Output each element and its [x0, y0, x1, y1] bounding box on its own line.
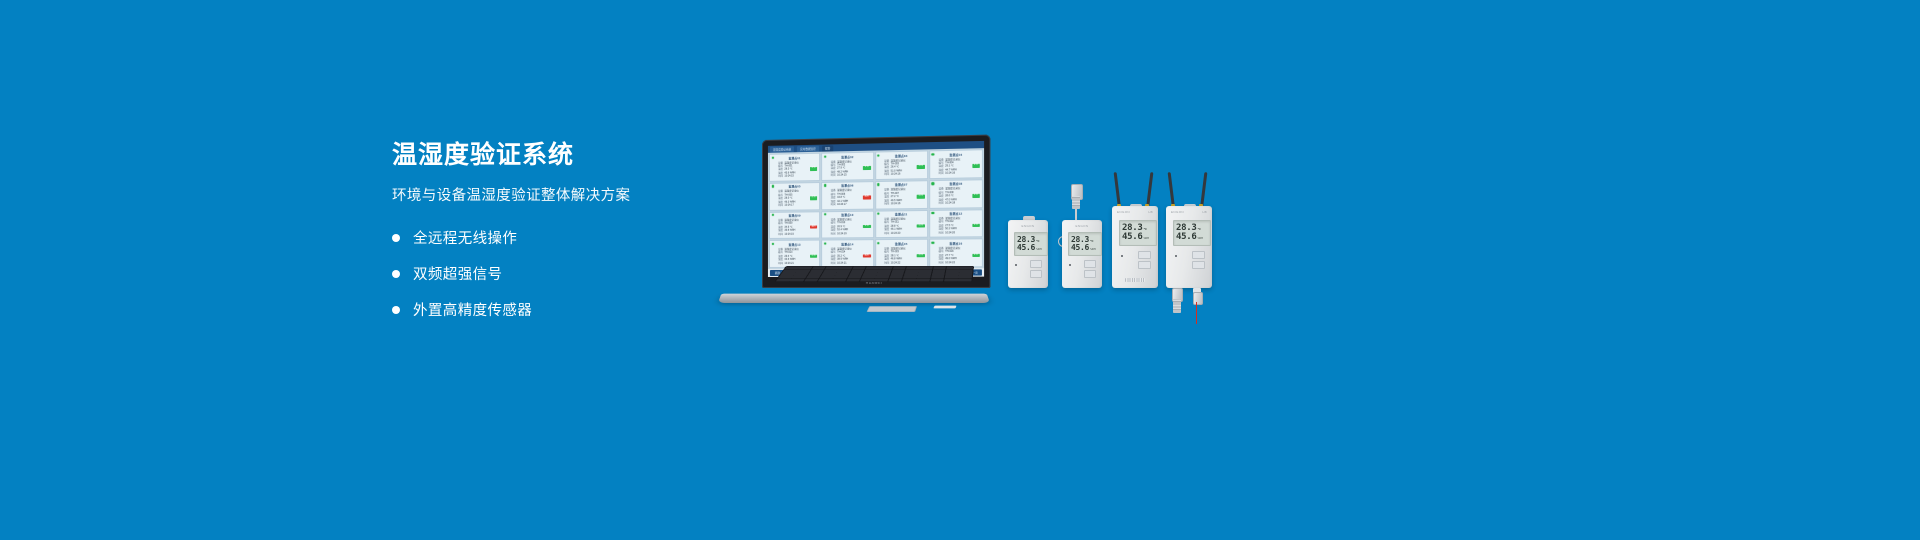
monitor-point-field: 时间10:24:16 — [932, 171, 980, 175]
keyboard-key[interactable] — [902, 279, 916, 282]
monitor-point-title: 监测点12 — [932, 211, 980, 216]
monitor-point-cell[interactable]: 监测点02设备温湿度记录仪编号TH-002温度27.9 ℃正常湿度48.2 %R… — [821, 152, 873, 181]
keyboard-key[interactable] — [860, 279, 874, 282]
status-led-icon — [932, 153, 935, 156]
monitor-point-cell[interactable]: 监测点12设备温湿度记录仪编号TH-012温度27.5 ℃正常湿度50.2 %R… — [929, 209, 983, 238]
monitor-point-cell[interactable]: 监测点04设备温湿度记录仪编号TH-004温度29.1 ℃正常湿度44.7 %R… — [929, 149, 983, 179]
field-value: 10:24:22 — [891, 261, 925, 265]
laptop-keyboard[interactable] — [774, 266, 974, 282]
field-key: 时间 — [772, 262, 783, 266]
monitor-point-title: 监测点05 — [772, 184, 817, 189]
monitor-point-cell[interactable]: 监测点14设备温湿度记录仪编号TH-014温度35.2 ℃超限湿度38.9 %R… — [821, 239, 873, 267]
field-key: 时间 — [932, 231, 944, 235]
laptop-illustration: 温湿度验证系统 实时数据监控 报警 监测点01设备温湿度记录仪编号TH-001温… — [718, 140, 990, 300]
monitor-point-field: 时间10:24:21 — [772, 261, 817, 265]
monitor-point-title: 监测点08 — [932, 182, 980, 187]
field-key: 时间 — [824, 261, 835, 265]
monitor-point-cell[interactable]: 监测点07设备温湿度记录仪编号TH-007温度27.2 ℃正常湿度49.5 %R… — [875, 180, 928, 209]
tab-system[interactable]: 温湿度验证系统 — [770, 146, 794, 153]
monitor-point-field: 时间10:24:20 — [878, 231, 925, 235]
field-value: 10:24:18 — [891, 202, 925, 206]
keyboard-key[interactable] — [874, 279, 888, 282]
monitor-point-field: 时间10:24:19 — [824, 232, 870, 236]
device-model-label: H8 — [1112, 210, 1158, 214]
monitor-point-field: 时间10:24:17 — [824, 203, 870, 207]
device-lcd-display: 28.3 ℃ 45.6 %RH — [1173, 220, 1211, 246]
field-value: 10:24:17 — [784, 203, 817, 207]
keyboard-key[interactable] — [832, 279, 847, 282]
sensor-grille — [1125, 278, 1145, 282]
device-lcd-display: 28.3 ℃ 45.6 %RH — [1068, 232, 1102, 256]
field-key: 时间 — [824, 232, 835, 236]
monitor-point-title: 监测点15 — [878, 242, 925, 246]
field-value: 10:24:15 — [784, 174, 817, 178]
monitor-point-field: 时间10:24:17 — [772, 203, 817, 207]
laptop-trackpad[interactable] — [867, 306, 917, 312]
device-lcd-display: 28.3 ℃ 45.6 %RH — [1119, 220, 1157, 246]
monitor-point-cell[interactable]: 监测点03设备温湿度记录仪编号TH-003温度26.4 ℃正常湿度51.0 %R… — [875, 150, 928, 179]
page-subtitle: 环境与设备温湿度验证整体解决方案 — [392, 184, 722, 205]
laptop-lid: 温湿度验证系统 实时数据监控 报警 监测点01设备温湿度记录仪编号TH-001温… — [762, 135, 990, 288]
set-button[interactable] — [1192, 251, 1205, 259]
monitor-point-title: 监测点13 — [772, 242, 817, 246]
field-value: 10:24:22 — [945, 261, 980, 265]
status-led-icon — [1069, 264, 1071, 266]
field-key: 时间 — [824, 174, 835, 178]
feature-label: 外置高精度传感器 — [413, 299, 532, 320]
lcd-humidity-row: 45.6 %RH — [1122, 233, 1154, 242]
monitor-point-cell[interactable]: 监测点06设备温湿度记录仪编号TH-006温度33.8 ℃超限湿度42.1 %R… — [821, 181, 873, 210]
monitor-point-cell[interactable]: 监测点10设备温湿度记录仪编号TH-010温度26.9 ℃正常湿度52.4 %R… — [821, 210, 873, 239]
status-led-icon — [771, 156, 773, 158]
monitor-point-grid: 监测点01设备温湿度记录仪编号TH-001温度28.3 ℃正常湿度45.6 %R… — [768, 148, 984, 269]
monitor-point-cell[interactable]: 监测点08设备温湿度记录仪编号TH-008温度28.6 ℃正常湿度47.0 %R… — [929, 179, 983, 208]
antenna-icon — [1114, 172, 1121, 208]
device-brand-label: ENGON — [1062, 224, 1102, 228]
device-recorder-probe[interactable]: ENGON 28.3 ℃ 45.6 %RH — [1062, 220, 1102, 288]
lcd-humidity-row: 45.6 %RH — [1176, 233, 1208, 242]
monitor-point-title: 监测点09 — [772, 213, 817, 218]
monitor-point-cell[interactable]: 监测点09设备温湿度记录仪编号TH-009温度34.5 ℃超限湿度39.8 %R… — [769, 211, 820, 239]
lcd-humidity-row: 45.6 %RH — [1017, 244, 1045, 252]
lcd-temperature-unit: ℃ — [1197, 228, 1200, 231]
device-wireless-dual-antenna[interactable]: ENGON H8 28.3 ℃ 45.6 %RH — [1112, 206, 1158, 288]
probe-mesh-sensor-icon — [1072, 196, 1080, 209]
monitor-point-cell[interactable]: 监测点13设备温湿度记录仪编号TH-013温度29.4 ℃正常湿度43.6 %R… — [769, 240, 820, 268]
status-led-icon — [1015, 264, 1017, 266]
lcd-humidity-row: 45.6 %RH — [1071, 244, 1099, 252]
field-key: 时间 — [772, 175, 783, 179]
mode-button[interactable] — [1084, 270, 1096, 278]
device-lcd-display: 28.3 ℃ 45.6 %RH — [1014, 232, 1048, 256]
status-led-icon — [824, 184, 826, 186]
laptop-screen: 温湿度验证系统 实时数据监控 报警 监测点01设备温湿度记录仪编号TH-001温… — [768, 141, 984, 277]
keyboard-key[interactable] — [804, 279, 819, 282]
monitor-point-title: 监测点07 — [878, 183, 925, 188]
monitor-point-cell[interactable]: 监测点11设备温湿度记录仪编号TH-011温度28.8 ℃正常湿度45.1 %R… — [875, 209, 928, 238]
antenna-icon — [1168, 172, 1175, 208]
monitor-point-field: 时间10:24:18 — [932, 201, 980, 205]
list-item: 双频超强信号 — [392, 263, 722, 284]
field-value: 10:24:17 — [837, 203, 870, 207]
external-probe-mesh-icon — [1173, 299, 1181, 313]
external-probe-wire — [1196, 302, 1197, 324]
laptop-base-badge — [933, 306, 956, 309]
device-wireless-external-probe[interactable]: ENGON H8 28.3 ℃ 45.6 %RH — [1166, 206, 1212, 288]
keyboard-key[interactable] — [958, 279, 971, 282]
monitor-point-cell[interactable]: 监测点05设备温湿度记录仪编号TH-005温度28.0 ℃正常湿度46.3 %R… — [769, 182, 820, 211]
lcd-humidity-unit: %RH — [1036, 248, 1041, 251]
monitor-point-cell[interactable]: 监测点01设备温湿度记录仪编号TH-001温度28.3 ℃正常湿度45.6 %R… — [769, 153, 820, 182]
monitor-point-field: 时间10:24:15 — [824, 173, 870, 177]
lcd-humidity-value: 45.6 — [1017, 244, 1035, 252]
keyboard-key[interactable] — [944, 279, 958, 282]
status-led-icon — [1121, 255, 1123, 257]
set-button[interactable] — [1138, 251, 1151, 259]
lcd-humidity-unit: %RH — [1090, 248, 1095, 251]
feature-list: 全远程无线操作 双频超强信号 外置高精度传感器 — [392, 227, 722, 320]
monitor-point-title: 监测点14 — [824, 242, 870, 246]
field-key: 时间 — [824, 203, 835, 207]
device-model-label: H8 — [1166, 210, 1212, 214]
lcd-humidity-unit: %RH — [1197, 237, 1202, 240]
field-key: 时间 — [932, 172, 944, 176]
set-button[interactable] — [1084, 260, 1096, 268]
tab-realtime[interactable]: 实时数据监控 — [797, 145, 819, 152]
lcd-humidity-value: 45.6 — [1071, 244, 1089, 252]
field-value: 10:24:19 — [837, 232, 870, 236]
lcd-temperature-unit: ℃ — [1036, 240, 1039, 243]
monitor-point-title: 监测点10 — [824, 213, 870, 218]
field-value: 10:24:16 — [891, 172, 925, 176]
monitor-point-cell[interactable]: 监测点15设备温湿度记录仪编号TH-015温度28.1 ℃正常湿度46.8 %R… — [875, 239, 928, 268]
list-item: 全远程无线操作 — [392, 227, 722, 248]
keyboard-key[interactable] — [930, 279, 944, 282]
mode-button[interactable] — [1138, 261, 1151, 269]
feature-label: 双频超强信号 — [413, 263, 502, 284]
lcd-humidity-value: 45.6 — [1176, 233, 1196, 242]
monitor-point-cell[interactable]: 监测点16设备温湿度记录仪编号TH-016温度27.7 ℃正常湿度49.0 %R… — [929, 239, 983, 268]
laptop-base — [718, 294, 990, 303]
antenna-icon — [1146, 172, 1153, 208]
page-title: 温湿度验证系统 — [392, 140, 722, 170]
status-led-icon — [771, 243, 773, 245]
keyboard-key[interactable] — [790, 279, 805, 282]
status-led-icon — [771, 185, 773, 187]
lcd-temperature-unit: ℃ — [1143, 228, 1146, 231]
keyboard-key[interactable] — [916, 279, 930, 282]
field-key: 时间 — [772, 233, 783, 237]
device-brand-label: ENGON — [1008, 224, 1048, 228]
keyboard-row — [776, 279, 972, 282]
status-led-icon — [932, 241, 935, 243]
status-led-icon — [1175, 255, 1177, 257]
tab-alarm[interactable]: 报警 — [822, 145, 833, 151]
keyboard-key[interactable] — [846, 279, 860, 282]
lcd-humidity-unit: %RH — [1143, 237, 1148, 240]
monitor-point-field: 时间10:24:21 — [824, 261, 870, 265]
monitor-point-field: 时间10:24:18 — [878, 202, 925, 206]
monitor-point-title: 监测点06 — [824, 183, 870, 188]
set-button[interactable] — [1030, 260, 1042, 268]
field-value: 10:24:21 — [837, 261, 870, 265]
field-key: 时间 — [878, 232, 889, 236]
feature-label: 全远程无线操作 — [413, 227, 517, 248]
field-value: 10:24:15 — [837, 173, 870, 177]
field-value: 10:24:21 — [784, 261, 817, 265]
device-lineup: ENGON 28.3 ℃ 45.6 %RH — [1000, 178, 1220, 328]
monitor-point-field: 时间10:24:15 — [772, 174, 817, 178]
bullet-dot-icon — [392, 306, 400, 314]
device-recorder-compact[interactable]: ENGON 28.3 ℃ 45.6 %RH — [1008, 220, 1048, 288]
external-probe-head-right — [1193, 292, 1203, 305]
hero-copy: 温湿度验证系统 环境与设备温湿度验证整体解决方案 全远程无线操作 双频超强信号 … — [392, 140, 722, 335]
field-value: 10:24:18 — [945, 201, 980, 205]
field-key: 时间 — [878, 202, 889, 206]
bullet-dot-icon — [392, 234, 400, 242]
status-led-icon — [932, 182, 935, 184]
field-key: 时间 — [772, 204, 783, 208]
monitor-point-title: 监测点16 — [932, 241, 980, 245]
field-key: 时间 — [878, 261, 889, 265]
list-item: 外置高精度传感器 — [392, 299, 722, 320]
mode-button[interactable] — [1192, 261, 1205, 269]
lcd-humidity-value: 45.6 — [1122, 233, 1142, 242]
monitor-point-field: 时间10:24:16 — [878, 172, 925, 176]
keyboard-key[interactable] — [888, 279, 902, 282]
field-value: 10:24:20 — [945, 231, 980, 235]
monitor-point-field: 时间10:24:20 — [932, 231, 980, 235]
bullet-dot-icon — [392, 270, 400, 278]
antenna-icon — [1200, 172, 1207, 208]
monitor-point-field: 时间10:24:19 — [772, 232, 817, 236]
field-key: 时间 — [932, 261, 944, 265]
mode-button[interactable] — [1030, 270, 1042, 278]
field-key: 时间 — [932, 202, 944, 206]
field-value: 10:24:19 — [784, 232, 817, 236]
promo-banner: 温湿度验证系统 环境与设备温湿度验证整体解决方案 全远程无线操作 双频超强信号 … — [0, 0, 1920, 540]
keyboard-key[interactable] — [818, 279, 833, 282]
lcd-temperature-unit: ℃ — [1090, 240, 1093, 243]
field-value: 10:24:16 — [945, 171, 980, 175]
monitor-point-field: 时间10:24:22 — [878, 261, 925, 265]
field-key: 时间 — [878, 173, 889, 177]
status-led-icon — [824, 155, 826, 157]
monitor-point-title: 监测点11 — [878, 212, 925, 217]
field-value: 10:24:20 — [891, 231, 925, 235]
monitor-point-field: 时间10:24:22 — [932, 261, 980, 265]
